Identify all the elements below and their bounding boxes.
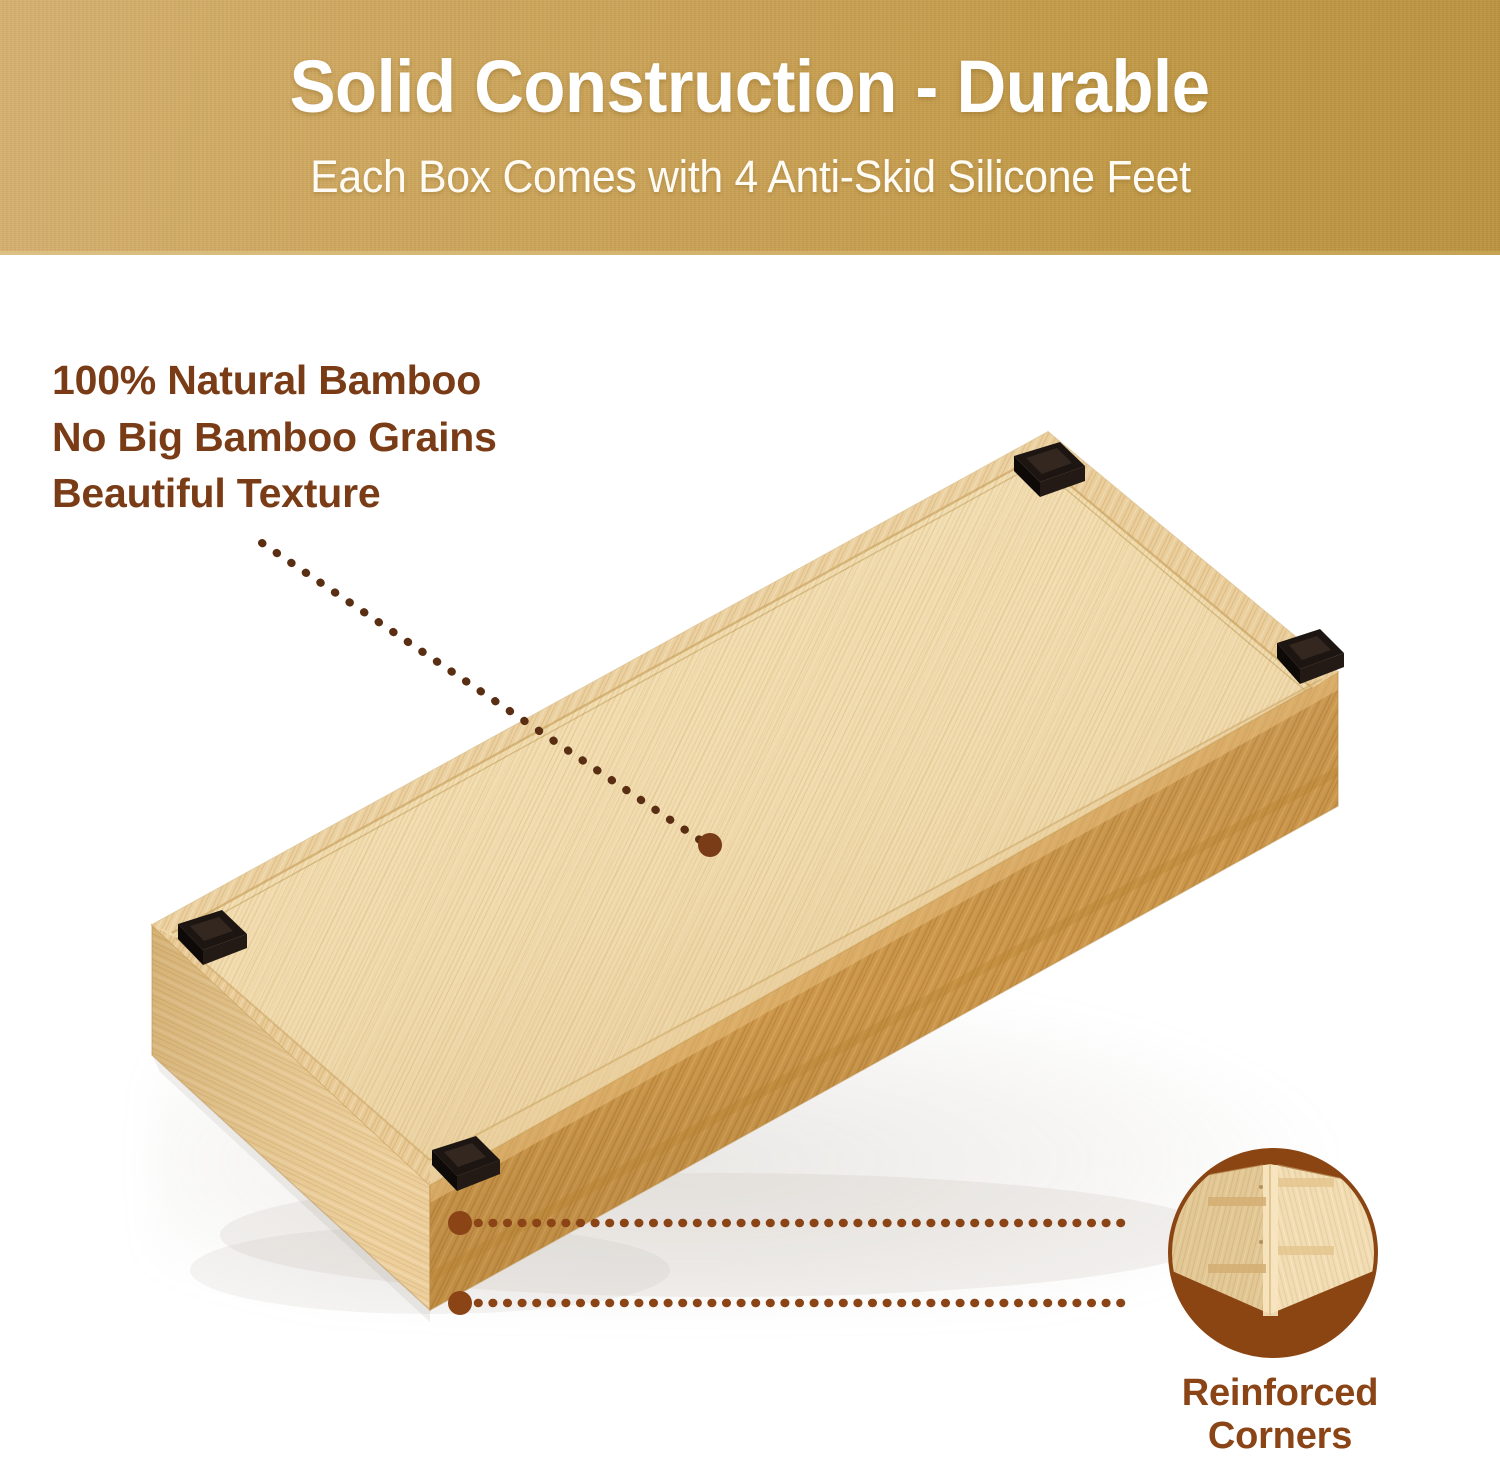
- inset-label-line-2: Corners: [1120, 1415, 1440, 1458]
- product-scene: Reinforced Corners: [0, 0, 1500, 1463]
- inset-label: Reinforced Corners: [1120, 1372, 1440, 1458]
- reinforced-corner-inset: [1162, 1142, 1384, 1364]
- inset-label-line-1: Reinforced: [1120, 1372, 1440, 1415]
